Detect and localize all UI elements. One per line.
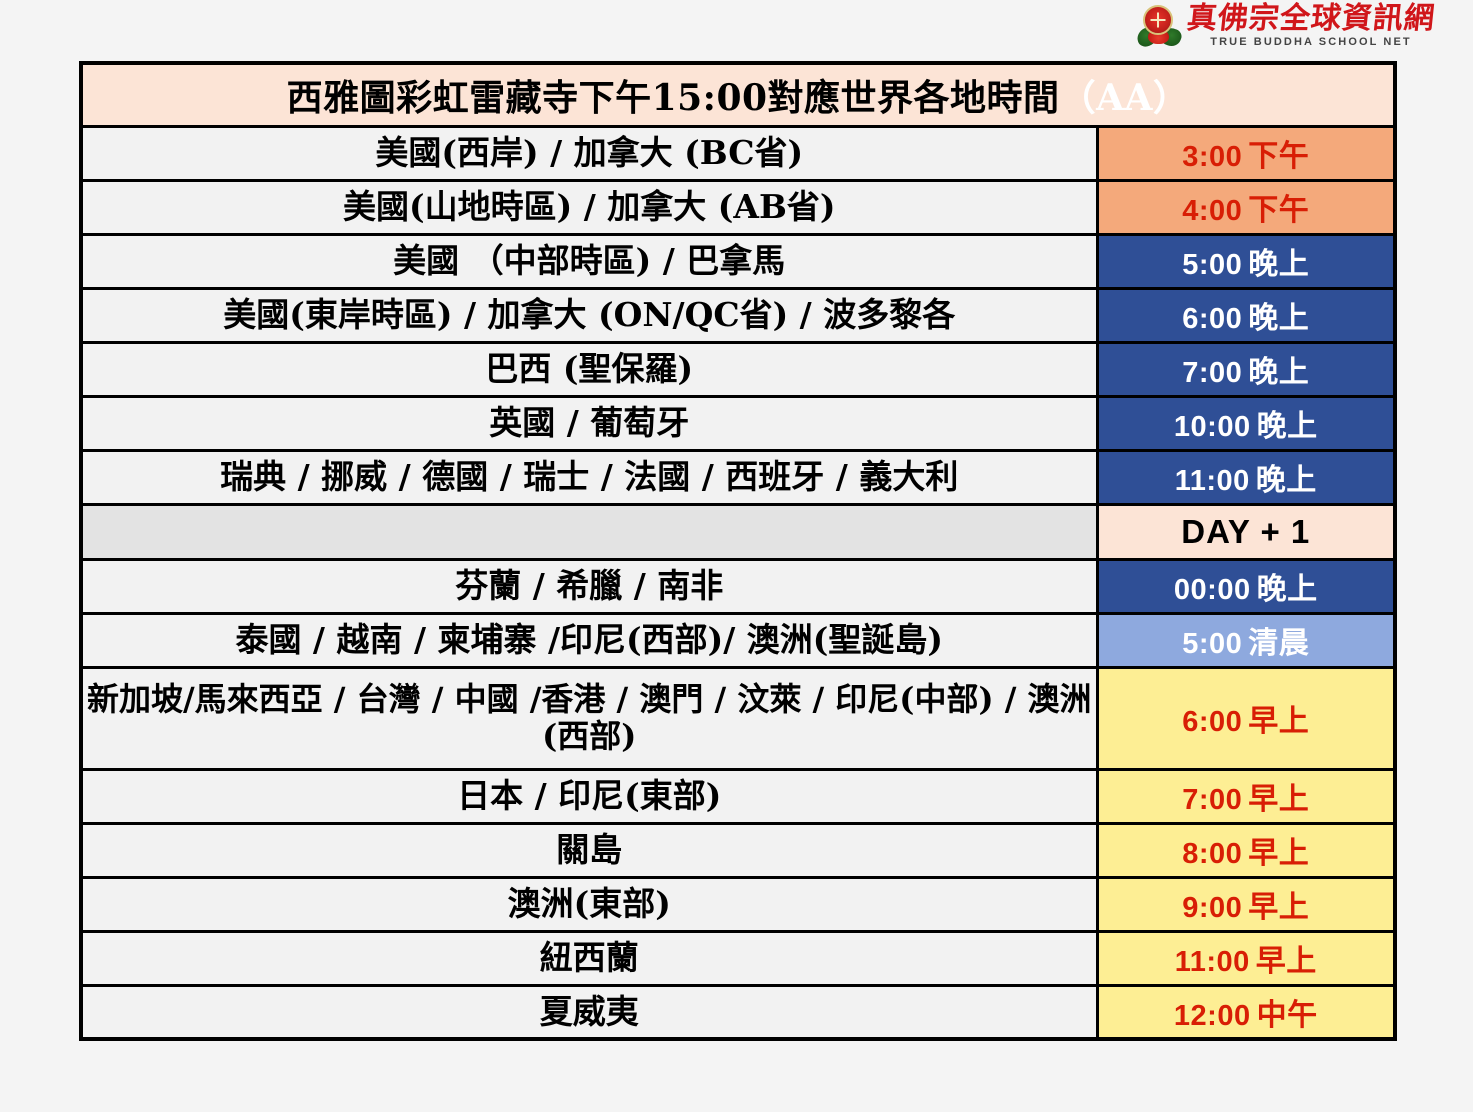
table-row: 夏威夷12:00中午 bbox=[81, 985, 1395, 1039]
time-value: 12:00 bbox=[1174, 1000, 1251, 1032]
site-logo: 真佛宗全球資訊網 TRUE BUDDHA SCHOOL NET bbox=[1137, 4, 1435, 48]
table-title-row: 西雅圖彩虹雷藏寺下午15:00對應世界各地時間（AA） bbox=[81, 63, 1395, 126]
time-value: 8:00 bbox=[1182, 838, 1242, 870]
region-cell: 夏威夷 bbox=[81, 985, 1097, 1039]
time-value: 7:00 bbox=[1182, 357, 1242, 389]
table-row: 泰國 / 越南 / 柬埔寨 /印尼(西部)/ 澳洲(聖誕島)5:00清晨 bbox=[81, 613, 1395, 667]
time-value: 4:00 bbox=[1182, 195, 1242, 227]
time-value: DAY + 1 bbox=[1181, 513, 1310, 550]
lotus-emblem-icon bbox=[1137, 4, 1181, 48]
time-period-label: 晚上 bbox=[1248, 301, 1309, 336]
time-period-label: 早上 bbox=[1256, 944, 1317, 979]
region-cell: 英國 / 葡萄牙 bbox=[81, 396, 1097, 450]
table-row: 美國(西岸) / 加拿大 (BC省)3:00下午 bbox=[81, 126, 1395, 180]
table-title-main: 西雅圖彩虹雷藏寺下午15:00對應世界各地時間 bbox=[287, 77, 1060, 119]
region-cell: 泰國 / 越南 / 柬埔寨 /印尼(西部)/ 澳洲(聖誕島) bbox=[81, 613, 1097, 667]
table-row: 新加坡/馬來西亞 / 台灣 / 中國 /香港 / 澳門 / 汶萊 / 印尼(中部… bbox=[81, 667, 1395, 769]
local-time-cell: 00:00晚上 bbox=[1097, 559, 1395, 613]
region-cell: 芬蘭 / 希臘 / 南非 bbox=[81, 559, 1097, 613]
region-cell: 美國(西岸) / 加拿大 (BC省) bbox=[81, 126, 1097, 180]
region-cell: 澳洲(東部) bbox=[81, 877, 1097, 931]
local-time-cell: 10:00晚上 bbox=[1097, 396, 1395, 450]
time-value: 11:00 bbox=[1175, 465, 1250, 497]
local-time-cell: 7:00晚上 bbox=[1097, 342, 1395, 396]
time-value: 6:00 bbox=[1182, 706, 1242, 738]
table-row: 澳洲(東部)9:00早上 bbox=[81, 877, 1395, 931]
local-time-cell: 4:00下午 bbox=[1097, 180, 1395, 234]
time-period-label: 晚上 bbox=[1257, 409, 1318, 444]
time-value: 5:00 bbox=[1182, 249, 1242, 281]
local-time-cell: 5:00清晨 bbox=[1097, 613, 1395, 667]
region-cell: 美國(東岸時區) / 加拿大 (ON/QC省) / 波多黎各 bbox=[81, 288, 1097, 342]
time-period-label: 清晨 bbox=[1248, 626, 1309, 661]
local-time-cell: 7:00早上 bbox=[1097, 769, 1395, 823]
region-cell: 美國 （中部時區) / 巴拿馬 bbox=[81, 234, 1097, 288]
local-time-cell: 5:00晚上 bbox=[1097, 234, 1395, 288]
time-value: 10:00 bbox=[1174, 411, 1251, 443]
table-row: 關島8:00早上 bbox=[81, 823, 1395, 877]
time-value: 5:00 bbox=[1182, 628, 1242, 660]
local-time-cell: 11:00晚上 bbox=[1097, 450, 1395, 504]
world-time-table: 西雅圖彩虹雷藏寺下午15:00對應世界各地時間（AA） 美國(西岸) / 加拿大… bbox=[79, 61, 1397, 1041]
table-row: 日本 / 印尼(東部)7:00早上 bbox=[81, 769, 1395, 823]
time-period-label: 下午 bbox=[1248, 139, 1309, 174]
region-cell: 巴西 (聖保羅) bbox=[81, 342, 1097, 396]
local-time-cell: 9:00早上 bbox=[1097, 877, 1395, 931]
region-cell: 關島 bbox=[81, 823, 1097, 877]
local-time-cell: 12:00中午 bbox=[1097, 985, 1395, 1039]
time-value: 7:00 bbox=[1182, 784, 1242, 816]
table-row: 紐西蘭11:00早上 bbox=[81, 931, 1395, 985]
table-row: 巴西 (聖保羅)7:00晚上 bbox=[81, 342, 1395, 396]
time-value: 6:00 bbox=[1182, 303, 1242, 335]
region-cell: 新加坡/馬來西亞 / 台灣 / 中國 /香港 / 澳門 / 汶萊 / 印尼(中部… bbox=[81, 667, 1097, 769]
logo-english-name: TRUE BUDDHA SCHOOL NET bbox=[1210, 37, 1411, 48]
region-cell: 日本 / 印尼(東部) bbox=[81, 769, 1097, 823]
region-cell: 紐西蘭 bbox=[81, 931, 1097, 985]
day-offset-cell: DAY + 1 bbox=[1097, 504, 1395, 559]
table-title-cell: 西雅圖彩虹雷藏寺下午15:00對應世界各地時間（AA） bbox=[81, 63, 1395, 126]
time-period-label: 下午 bbox=[1248, 193, 1309, 228]
time-period-label: 晚上 bbox=[1257, 572, 1318, 607]
table-row: 芬蘭 / 希臘 / 南非00:00晚上 bbox=[81, 559, 1395, 613]
time-period-label: 晚上 bbox=[1248, 355, 1309, 390]
time-period-label: 早上 bbox=[1248, 782, 1309, 817]
time-period-label: 晚上 bbox=[1256, 463, 1317, 498]
table-row: 瑞典 / 挪威 / 德國 / 瑞士 / 法國 / 西班牙 / 義大利11:00晚… bbox=[81, 450, 1395, 504]
local-time-cell: 6:00早上 bbox=[1097, 667, 1395, 769]
table-row: 美國(東岸時區) / 加拿大 (ON/QC省) / 波多黎各6:00晚上 bbox=[81, 288, 1395, 342]
logo-wordmark: 真佛宗全球資訊網 TRUE BUDDHA SCHOOL NET bbox=[1187, 4, 1435, 48]
region-cell: 瑞典 / 挪威 / 德國 / 瑞士 / 法國 / 西班牙 / 義大利 bbox=[81, 450, 1097, 504]
local-time-cell: 6:00晚上 bbox=[1097, 288, 1395, 342]
day-separator-cell bbox=[81, 504, 1097, 559]
time-value: 00:00 bbox=[1174, 574, 1251, 606]
local-time-cell: 8:00早上 bbox=[1097, 823, 1395, 877]
time-period-label: 晚上 bbox=[1248, 247, 1309, 282]
time-value: 3:00 bbox=[1182, 141, 1242, 173]
logo-chinese-name: 真佛宗全球資訊網 bbox=[1185, 4, 1436, 34]
table-row: 美國 （中部時區) / 巴拿馬5:00晚上 bbox=[81, 234, 1395, 288]
table-body: 西雅圖彩虹雷藏寺下午15:00對應世界各地時間（AA） 美國(西岸) / 加拿大… bbox=[81, 63, 1395, 1039]
table-title-suffix: （AA） bbox=[1060, 77, 1190, 119]
time-value: 9:00 bbox=[1182, 892, 1242, 924]
time-period-label: 早上 bbox=[1248, 704, 1309, 739]
local-time-cell: 11:00早上 bbox=[1097, 931, 1395, 985]
table-row: 美國(山地時區) / 加拿大 (AB省)4:00下午 bbox=[81, 180, 1395, 234]
time-period-label: 早上 bbox=[1248, 836, 1309, 871]
time-period-label: 中午 bbox=[1257, 998, 1318, 1033]
table-row: 英國 / 葡萄牙10:00晚上 bbox=[81, 396, 1395, 450]
local-time-cell: 3:00下午 bbox=[1097, 126, 1395, 180]
time-period-label: 早上 bbox=[1248, 890, 1309, 925]
region-cell: 美國(山地時區) / 加拿大 (AB省) bbox=[81, 180, 1097, 234]
time-value: 11:00 bbox=[1175, 946, 1250, 978]
table-row: DAY + 1 bbox=[81, 504, 1395, 559]
